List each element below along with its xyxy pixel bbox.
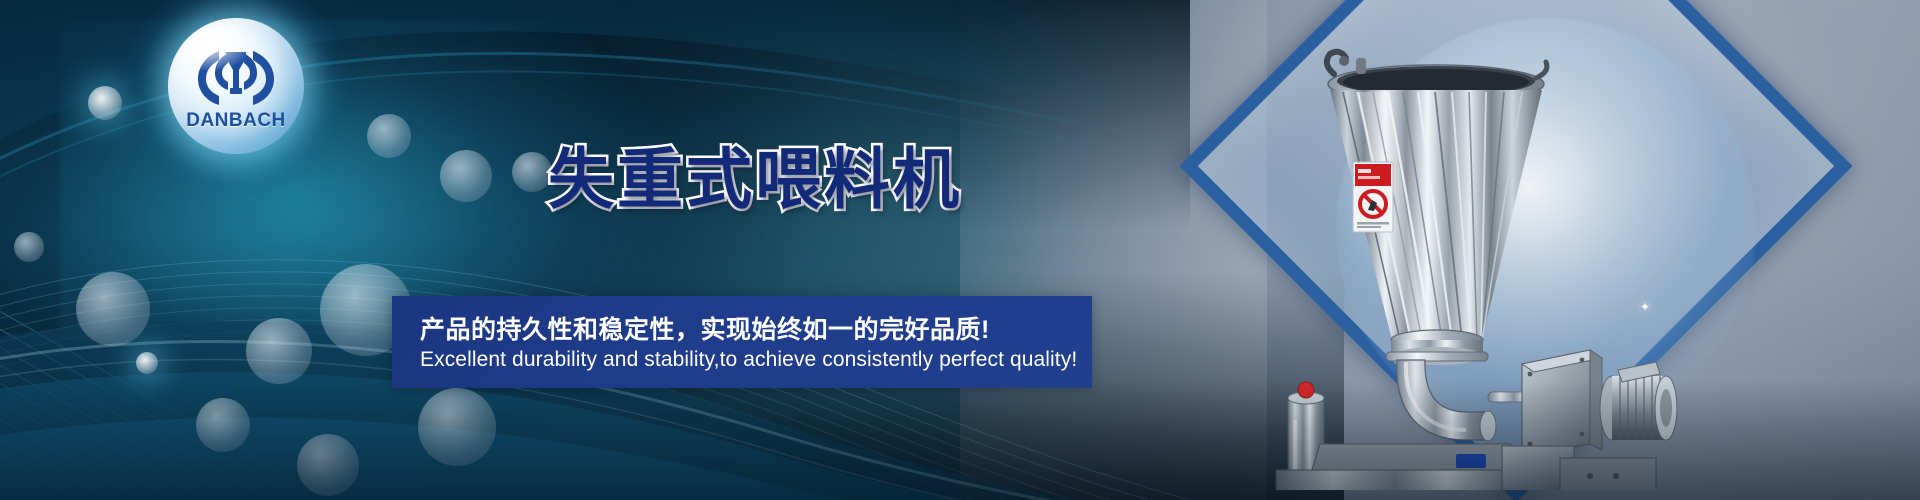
bokeh-circle [76, 272, 150, 346]
bokeh-circle [136, 352, 158, 374]
bokeh-circle [512, 152, 552, 192]
subtitle-english: Excellent durability and stability,to ac… [420, 348, 1077, 372]
bokeh-circle [88, 86, 122, 120]
bokeh-circle [14, 232, 44, 262]
bokeh-circle [440, 150, 492, 202]
no-hands-warning-label [1353, 162, 1393, 232]
bokeh-circle [246, 318, 312, 384]
bokeh-circle [196, 398, 250, 452]
loss-in-weight-feeder-image [1260, 40, 1680, 490]
motor [1600, 362, 1677, 440]
product-showcase: ✦ ✦ ✦ [1100, 0, 1920, 500]
brand-logo[interactable]: DANBACH [168, 18, 304, 154]
promo-banner: DANBACH 失重式喂料机 产品的持久性和稳定性，实现始终如一的完好品质! E… [0, 0, 1920, 500]
bokeh-circle [418, 388, 496, 466]
danbach-monogram-icon [197, 48, 275, 106]
banner-title: 失重式喂料机 [548, 126, 962, 222]
subtitle-chinese: 产品的持久性和稳定性，实现始终如一的完好品质! [420, 310, 990, 346]
logo-sphere: DANBACH [168, 18, 304, 154]
bokeh-circle [297, 434, 359, 496]
subtitle-box: 产品的持久性和稳定性，实现始终如一的完好品质! Excellent durabi… [392, 296, 1092, 388]
brand-name: DANBACH [168, 110, 304, 132]
bokeh-circle [367, 114, 411, 158]
